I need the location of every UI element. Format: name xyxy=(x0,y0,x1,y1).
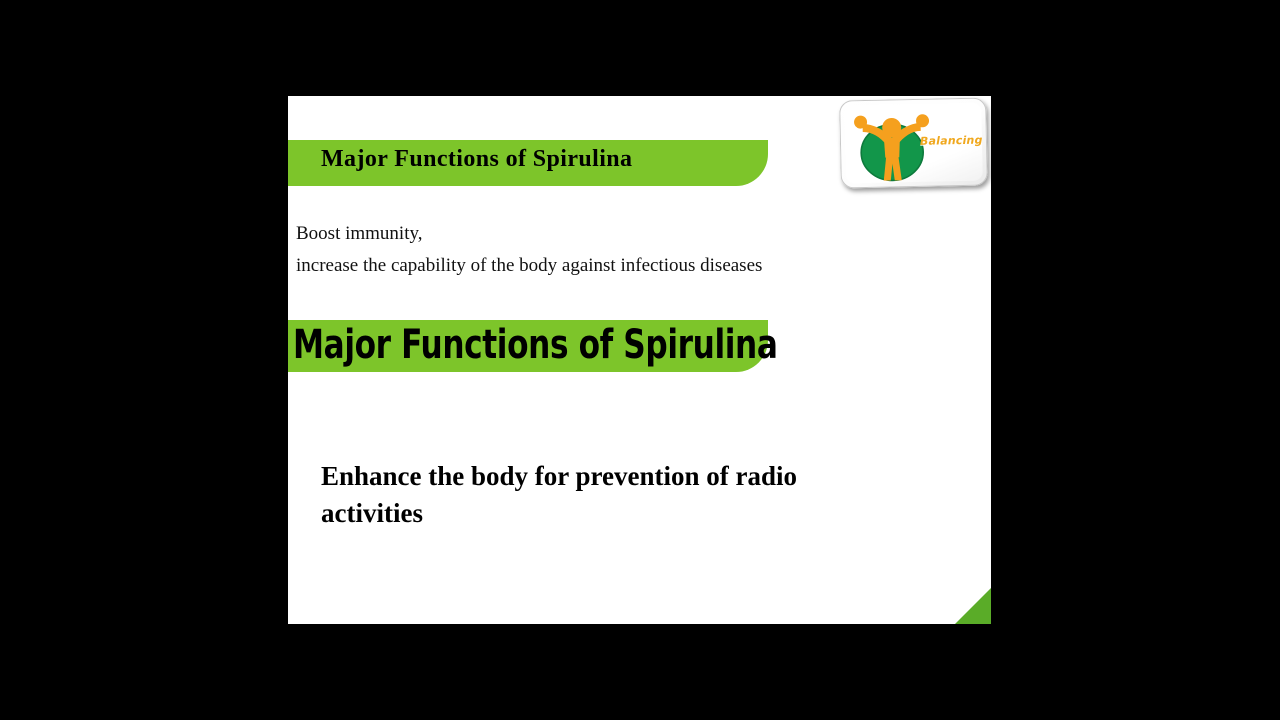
corner-accent-triangle xyxy=(955,588,991,624)
screen-canvas: Major Functions of Spirulina Boost immun… xyxy=(0,0,1280,720)
brand-logo-card: Balancing xyxy=(839,97,988,188)
presentation-slide: Major Functions of Spirulina Boost immun… xyxy=(288,96,991,624)
brand-wordmark: Balancing xyxy=(920,134,983,148)
slide-statement-text: Enhance the body for prevention of radio… xyxy=(321,458,901,532)
slide-heading-secondary: Major Functions of Spirulina xyxy=(293,318,778,372)
slide-body-text: Boost immunity, increase the capability … xyxy=(296,218,936,282)
body-line-1: Boost immunity, xyxy=(296,218,936,250)
slide-heading-primary: Major Functions of Spirulina xyxy=(321,146,632,173)
body-line-2: increase the capability of the body agai… xyxy=(296,250,936,282)
banner-tail-shape xyxy=(736,140,768,186)
